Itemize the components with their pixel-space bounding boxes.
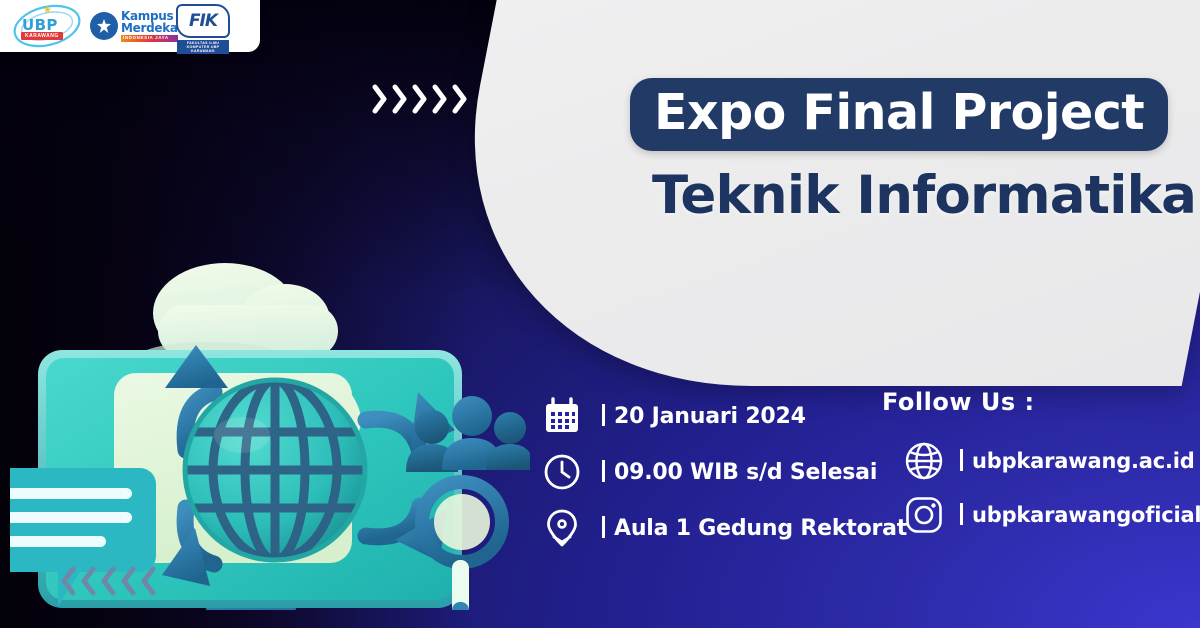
chevrons-right-decoration xyxy=(372,84,468,114)
illustration-monitor-cloud-network xyxy=(10,120,530,610)
poster-canvas: ★ UBP KARAWANG Kampus Merdeka INDONESIA … xyxy=(0,0,1200,628)
info-row-date: 20 Januari 2024 xyxy=(540,388,907,444)
chevrons-left-decoration xyxy=(60,566,156,596)
clock-icon xyxy=(540,450,584,494)
info-row-location: Aula 1 Gedung Rektorat xyxy=(540,500,907,556)
event-info-list: 20 Januari 2024 09.00 WIB s/d Selesai Au… xyxy=(540,388,907,556)
info-text-time: 09.00 WIB s/d Selesai xyxy=(602,460,877,485)
chevron-left-icon xyxy=(140,566,156,596)
globe-icon xyxy=(904,441,944,481)
tut-wuri-handayani-icon xyxy=(90,12,118,40)
chevron-left-icon xyxy=(60,566,76,596)
location-value: Aula 1 Gedung Rektorat xyxy=(614,516,907,541)
chevron-left-icon xyxy=(80,566,96,596)
kampus-merdeka-text: Kampus Merdeka INDONESIA JAYA xyxy=(121,10,178,42)
instagram-icon xyxy=(904,495,944,535)
instagram-value: ubpkarawangoficial xyxy=(972,503,1200,527)
kampus-merdeka-logo: Kampus Merdeka INDONESIA JAYA xyxy=(90,6,168,46)
fik-logo: FIK FAKULTAS ILMU KOMPUTER UBP KARAWANG xyxy=(174,3,232,49)
kampus-merdeka-line3: INDONESIA JAYA xyxy=(121,35,178,42)
ubp-logo-subtitle: KARAWANG xyxy=(21,32,63,40)
chevron-right-icon xyxy=(392,84,408,114)
follow-us-section: Follow Us : ubpkarawang.ac.id xyxy=(882,388,1200,542)
fik-logo-subtitle: FAKULTAS ILMU KOMPUTER UBP KARAWANG xyxy=(177,40,229,54)
website-value: ubpkarawang.ac.id xyxy=(972,449,1195,473)
info-text-location: Aula 1 Gedung Rektorat xyxy=(602,516,907,541)
kampus-merdeka-line2: Merdeka xyxy=(121,22,178,34)
title-badge: Expo Final Project xyxy=(630,78,1168,151)
follow-us-title: Follow Us : xyxy=(882,388,1200,416)
info-row-time: 09.00 WIB s/d Selesai xyxy=(540,444,907,500)
title-subtitle: Teknik Informatika xyxy=(652,165,1196,226)
info-text-date: 20 Januari 2024 xyxy=(602,404,806,429)
text-divider-bar xyxy=(602,404,605,426)
fik-logo-text: FIK xyxy=(189,11,217,31)
text-divider-bar xyxy=(602,516,605,538)
text-divider-bar xyxy=(960,503,963,525)
follow-text-instagram: ubpkarawangoficial xyxy=(960,503,1200,527)
globe-3d xyxy=(185,380,365,560)
date-value: 20 Januari 2024 xyxy=(614,404,806,429)
location-pin-icon xyxy=(540,506,584,550)
follow-text-website: ubpkarawang.ac.id xyxy=(960,449,1195,473)
chevron-left-icon xyxy=(120,566,136,596)
chevron-right-icon xyxy=(412,84,428,114)
text-divider-bar xyxy=(960,449,963,471)
calendar-icon xyxy=(540,394,584,438)
follow-row-instagram[interactable]: ubpkarawangoficial xyxy=(904,488,1200,542)
chevron-right-icon xyxy=(452,84,468,114)
chevron-right-icon xyxy=(432,84,448,114)
fik-shield-shape: FIK xyxy=(176,4,230,38)
text-divider-bar xyxy=(602,460,605,482)
title-block: Expo Final Project Teknik Informatika xyxy=(630,78,1196,226)
logo-strip: ★ UBP KARAWANG Kampus Merdeka INDONESIA … xyxy=(0,0,260,52)
chevron-right-icon xyxy=(372,84,388,114)
ubp-star-icon: ★ xyxy=(43,6,52,16)
time-value: 09.00 WIB s/d Selesai xyxy=(614,460,877,485)
chevron-left-icon xyxy=(100,566,116,596)
follow-row-website[interactable]: ubpkarawang.ac.id xyxy=(904,434,1200,488)
ubp-logo: ★ UBP KARAWANG xyxy=(10,4,84,48)
